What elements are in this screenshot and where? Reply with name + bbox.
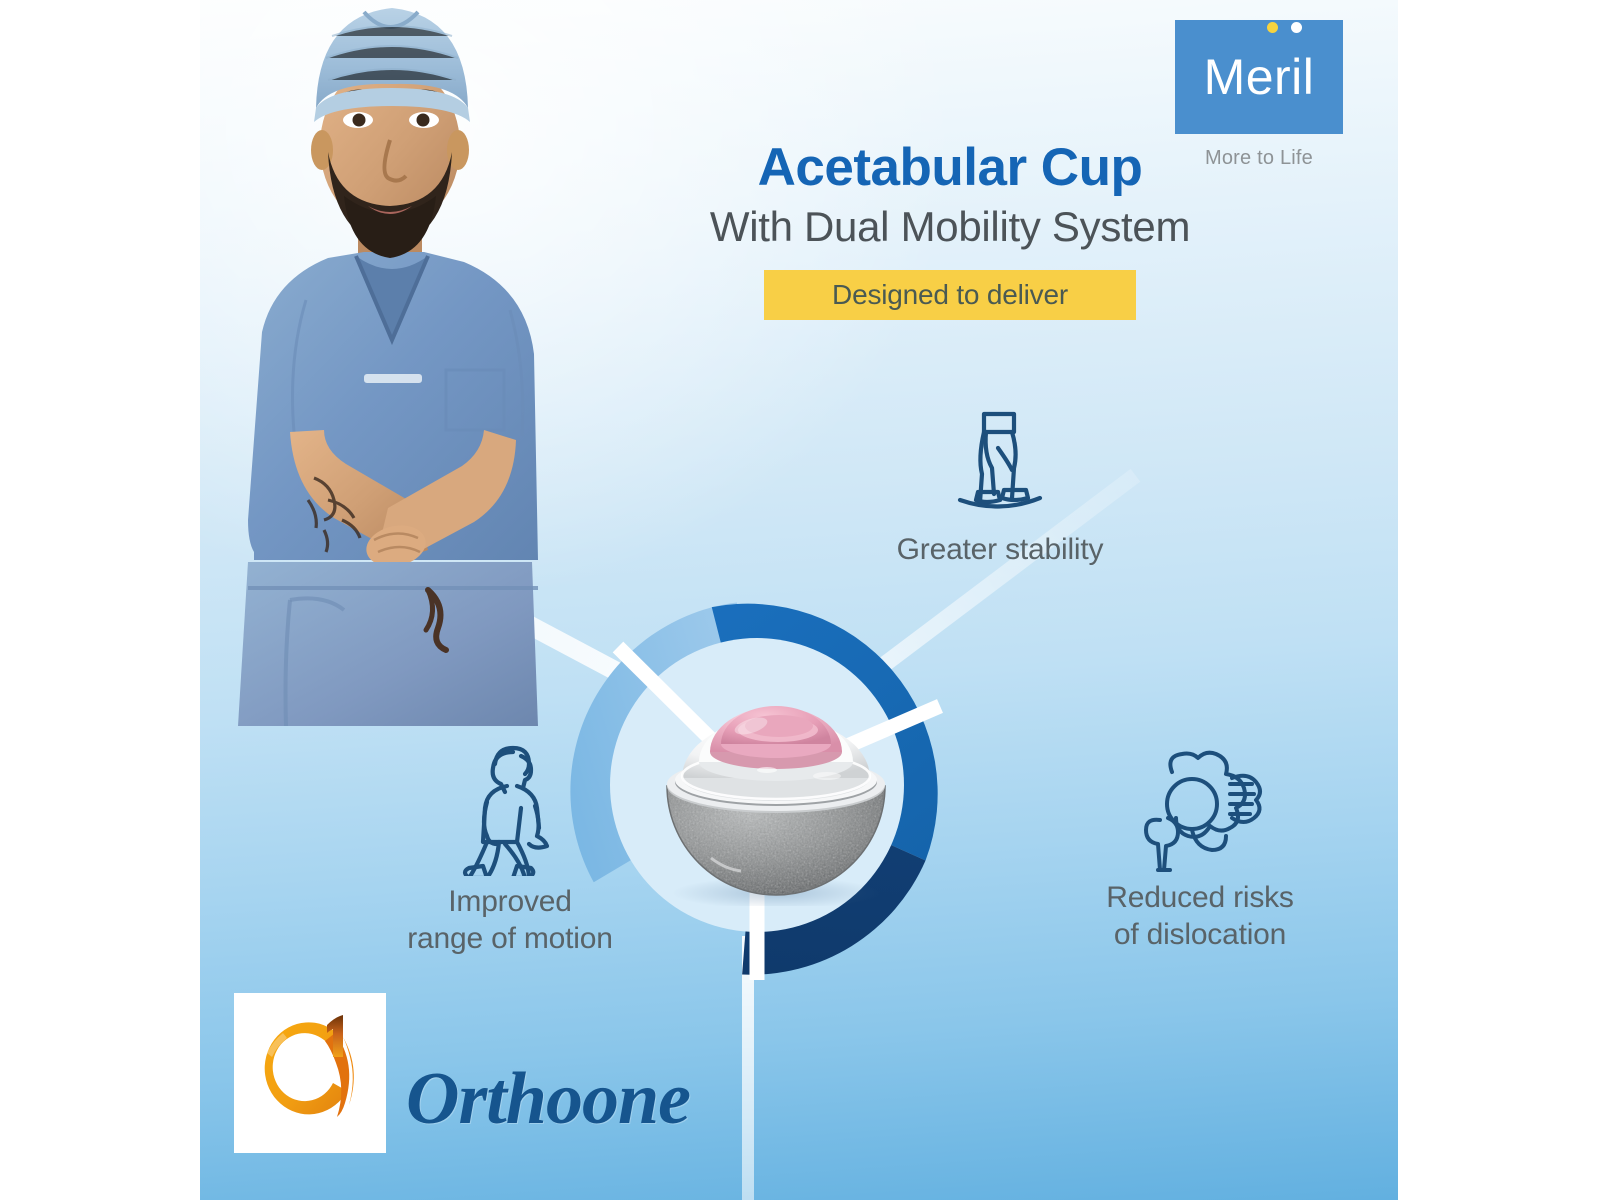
meril-dot-yellow-icon	[1267, 22, 1278, 33]
page-subtitle: With Dual Mobility System	[530, 204, 1370, 250]
meril-tagline: More to Life	[1175, 147, 1343, 170]
tagline-text: Designed to deliver	[832, 279, 1068, 311]
orthoone-wordmark: Orthoone	[406, 1062, 690, 1136]
poster-graphic: Acetabular Cup With Dual Mobility System…	[200, 0, 1398, 1200]
feature-label: Reduced risks of dislocation	[1020, 880, 1380, 953]
legs-balance-icon	[940, 400, 1060, 520]
poster-canvas: Acetabular Cup With Dual Mobility System…	[0, 0, 1600, 1200]
feature-reduced-dislocation: Reduced risks of dislocation	[1020, 748, 1380, 953]
hip-pelvis-bone-icon	[1130, 748, 1270, 872]
meril-dot-white-icon	[1291, 22, 1302, 33]
feature-label: Improved range of motion	[330, 884, 690, 957]
acetabular-cup-product-image	[655, 690, 897, 906]
tagline-banner: Designed to deliver	[764, 270, 1136, 320]
meril-wordmark: Meril	[1204, 52, 1315, 102]
orthoone-brand: Orthoone	[234, 993, 690, 1153]
feature-range-of-motion: Improved range of motion	[330, 740, 690, 957]
walking-person-icon	[451, 740, 569, 876]
orthoone-logo-mark	[234, 993, 386, 1153]
doctor-photo	[232, 0, 580, 726]
meril-logo: Meril More to Life	[1175, 20, 1343, 170]
feature-label: Greater stability	[820, 532, 1180, 569]
orthoone-circle-icon	[243, 1003, 377, 1143]
meril-logo-box: Meril	[1175, 20, 1343, 134]
feature-greater-stability: Greater stability	[820, 400, 1180, 569]
